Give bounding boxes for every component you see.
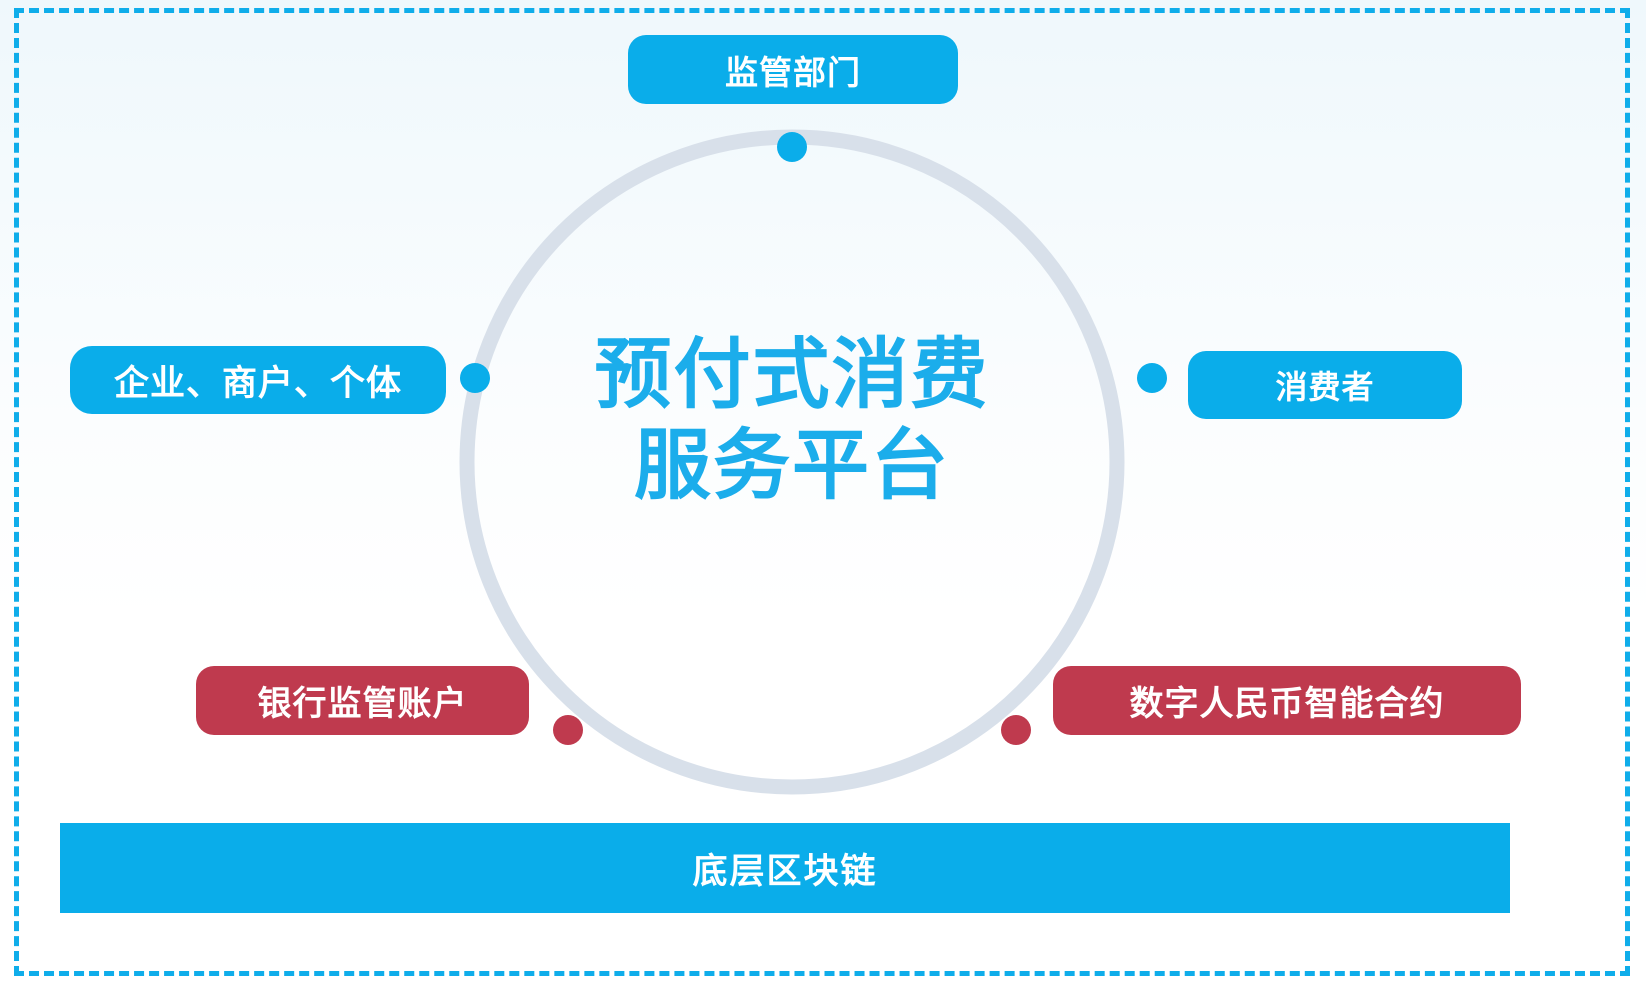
node-dot-bank-account bbox=[553, 715, 583, 745]
node-smart-contract-label: 数字人民币智能合约 bbox=[1130, 676, 1445, 725]
node-dot-regulator bbox=[777, 132, 807, 162]
center-platform-title-line2: 服务平台 bbox=[492, 421, 1092, 512]
node-regulator-label: 监管部门 bbox=[725, 46, 861, 94]
node-enterprises[interactable]: 企业、商户、个体 bbox=[70, 346, 446, 414]
foundation-blockchain-label: 底层区块链 bbox=[692, 843, 877, 894]
node-consumers-label: 消费者 bbox=[1275, 362, 1374, 408]
center-platform-title: 预付式消费 服务平台 bbox=[492, 330, 1092, 512]
node-regulator[interactable]: 监管部门 bbox=[628, 35, 958, 104]
node-consumers[interactable]: 消费者 bbox=[1188, 351, 1462, 419]
node-enterprises-label: 企业、商户、个体 bbox=[114, 355, 402, 406]
node-dot-consumers bbox=[1137, 363, 1167, 393]
node-dot-smart-contract bbox=[1001, 715, 1031, 745]
center-platform-title-line1: 预付式消费 bbox=[492, 330, 1092, 421]
foundation-blockchain-bar[interactable]: 底层区块链 bbox=[60, 823, 1510, 913]
node-bank-account[interactable]: 银行监管账户 bbox=[196, 666, 529, 735]
node-bank-account-label: 银行监管账户 bbox=[258, 676, 468, 725]
node-smart-contract[interactable]: 数字人民币智能合约 bbox=[1053, 666, 1521, 735]
node-dot-enterprises bbox=[460, 363, 490, 393]
diagram-canvas: 监管部门 企业、商户、个体 消费者 银行监管账户 数字人民币智能合约 预付式消费… bbox=[0, 0, 1646, 1000]
